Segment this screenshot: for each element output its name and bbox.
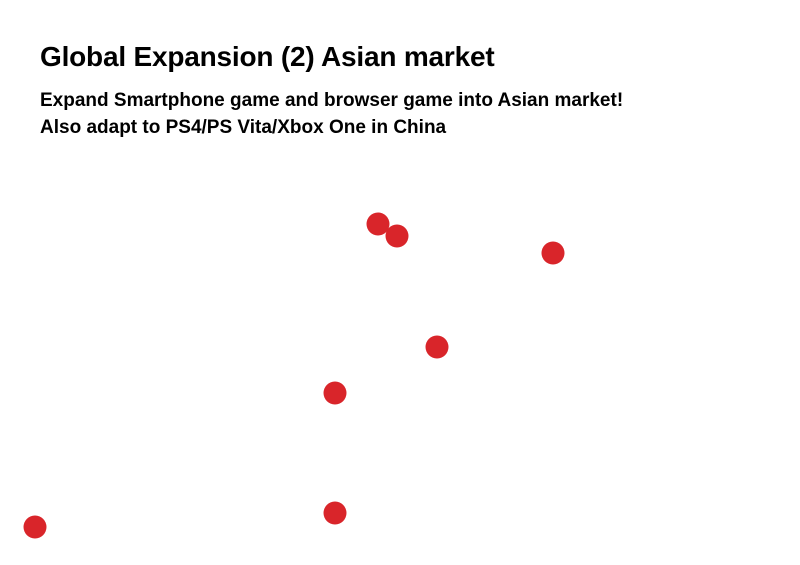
map-marker-dot — [324, 382, 347, 405]
presentation-slide: Global Expansion (2) Asian market Expand… — [0, 0, 800, 565]
map-marker-dot — [542, 242, 565, 265]
map-marker-dot — [24, 516, 47, 539]
asia-map-marker-layer — [0, 0, 800, 565]
map-marker-dot — [426, 336, 449, 359]
map-marker-dot — [386, 225, 409, 248]
map-marker-dot — [324, 502, 347, 525]
